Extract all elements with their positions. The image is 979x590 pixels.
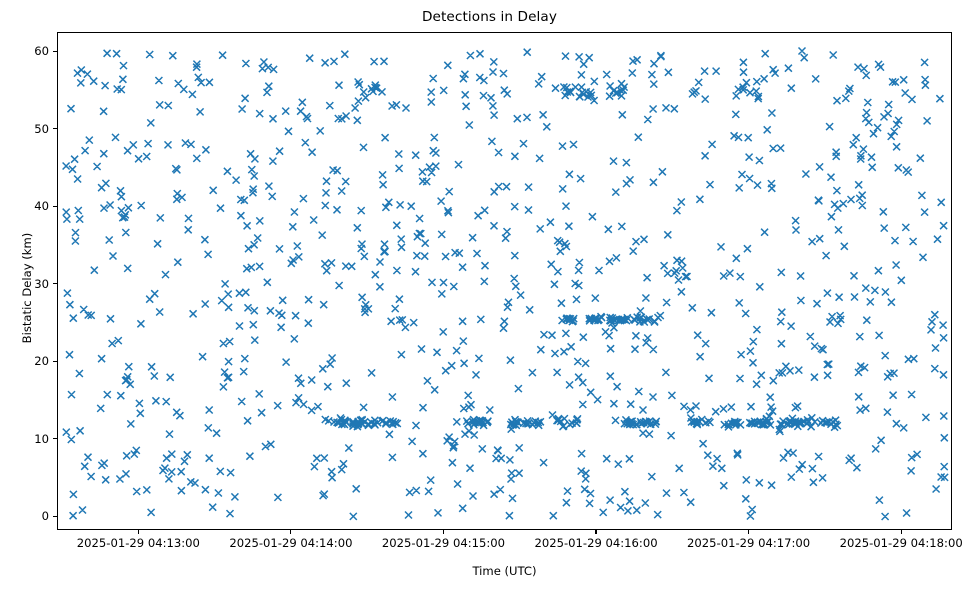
y-tick-mark — [53, 283, 57, 284]
y-tick-mark — [53, 516, 57, 517]
x-tick-mark — [443, 530, 444, 534]
plot-area — [57, 32, 952, 530]
x-tick-mark — [138, 530, 139, 534]
x-tick-label: 2025-01-29 04:16:00 — [534, 536, 657, 550]
y-tick-label: 50 — [34, 122, 49, 136]
y-tick-label: 20 — [34, 354, 49, 368]
scatter-marker-group — [63, 48, 949, 521]
y-tick-mark — [53, 206, 57, 207]
y-tick-mark — [53, 128, 57, 129]
y-tick-mark — [53, 438, 57, 439]
y-tick-mark — [53, 361, 57, 362]
y-axis-label: Bistatic Delay (km) — [20, 158, 34, 418]
x-tick-label: 2025-01-29 04:17:00 — [687, 536, 810, 550]
x-tick-mark — [290, 530, 291, 534]
x-tick-mark — [595, 530, 596, 534]
y-tick-label: 10 — [34, 432, 49, 446]
x-tick-label: 2025-01-29 04:14:00 — [229, 536, 352, 550]
x-axis-label: Time (UTC) — [57, 564, 952, 578]
scatter-points — [58, 33, 952, 530]
y-tick-label: 30 — [34, 277, 49, 291]
x-tick-mark — [748, 530, 749, 534]
x-tick-label: 2025-01-29 04:13:00 — [77, 536, 200, 550]
y-tick-mark — [53, 51, 57, 52]
x-tick-label: 2025-01-29 04:15:00 — [382, 536, 505, 550]
matplotlib-figure: Detections in Delay 2025-01-29 04:13:002… — [0, 0, 979, 590]
page-title: Detections in Delay — [0, 9, 979, 25]
x-tick-mark — [901, 530, 902, 534]
y-tick-label: 0 — [42, 509, 49, 523]
x-tick-label: 2025-01-29 04:18:00 — [840, 536, 963, 550]
y-tick-label: 40 — [34, 199, 49, 213]
y-tick-label: 60 — [34, 44, 49, 58]
